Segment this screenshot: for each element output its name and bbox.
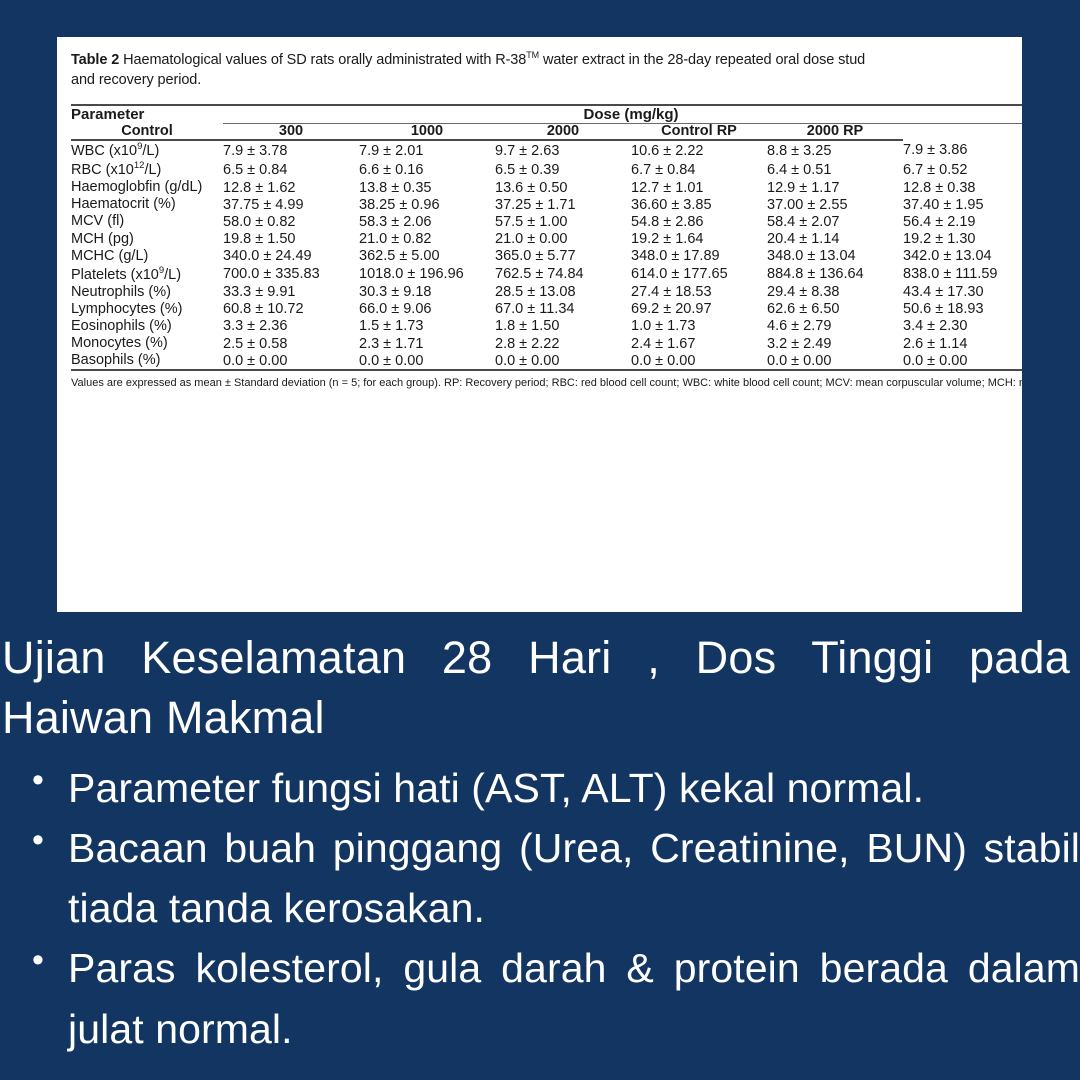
table-cell: 362.5 ± 5.00: [359, 248, 495, 265]
table-cell: 340.0 ± 24.49: [223, 248, 359, 265]
figure-inner: Table 2 Haematological values of SD rats…: [57, 37, 1022, 397]
table-cell: 37.00 ± 2.55: [767, 196, 903, 213]
table-cell: 2.4 ± 1.67: [631, 335, 767, 352]
table-cell: 58.3 ± 2.06: [359, 213, 495, 230]
row-header-parameter: MCV (fl): [71, 213, 223, 230]
table-cell: 67.0 ± 11.34: [495, 301, 631, 318]
figure-footnote: Values are expressed as mean ± Standard …: [71, 376, 1022, 397]
table-cell: 62.6 ± 6.50: [767, 301, 903, 318]
table-cell: 30.3 ± 9.18: [359, 284, 495, 301]
table-row: MCHC (g/L)340.0 ± 24.49362.5 ± 5.00365.0…: [71, 248, 1022, 265]
table-cell: 0.0 ± 0.00: [495, 352, 631, 370]
row-header-parameter: Platelets (x109/L): [71, 265, 223, 284]
table-column-header-row: Control30010002000Control RP2000 RP: [71, 123, 1022, 140]
table-cell: 6.7 ± 0.52: [903, 160, 1022, 179]
table-cell: 54.8 ± 2.86: [631, 213, 767, 230]
table-cell: 762.5 ± 74.84: [495, 265, 631, 284]
table-cell: 33.3 ± 9.91: [223, 284, 359, 301]
table-cell: 13.6 ± 0.50: [495, 179, 631, 196]
table-cell: 2.8 ± 2.22: [495, 335, 631, 352]
slide-heading: Ujian Keselamatan 28 Hari , Dos Tinggi p…: [0, 628, 1080, 748]
table-cell: 6.5 ± 0.39: [495, 160, 631, 179]
table-cell: 60.8 ± 10.72: [223, 301, 359, 318]
table-cell: 342.0 ± 13.04: [903, 248, 1022, 265]
haematology-table: Parameter Dose (mg/kg) Control3001000200…: [71, 104, 1022, 371]
figure-caption: Table 2 Haematological values of SD rats…: [71, 49, 1022, 90]
table-cell: 4.6 ± 2.79: [767, 318, 903, 335]
table-cell: 57.5 ± 1.00: [495, 213, 631, 230]
table-cell: 1018.0 ± 196.96: [359, 265, 495, 284]
table-cell: 12.8 ± 1.62: [223, 179, 359, 196]
table-cell: 1.5 ± 1.73: [359, 318, 495, 335]
table-cell: 37.40 ± 1.95: [903, 196, 1022, 213]
table-cell: 37.25 ± 1.71: [495, 196, 631, 213]
table-cell: 884.8 ± 136.64: [767, 265, 903, 284]
row-header-parameter: Lymphocytes (%): [71, 301, 223, 318]
table-cell: 614.0 ± 177.65: [631, 265, 767, 284]
column-header-300: 300: [223, 123, 359, 140]
table-cell: 6.5 ± 0.84: [223, 160, 359, 179]
slide-bullet-item: Paras kolesterol, gula darah & protein b…: [26, 938, 1080, 1059]
table-cell: 28.5 ± 13.08: [495, 284, 631, 301]
table-group-header-row: Parameter Dose (mg/kg): [71, 105, 1022, 124]
row-header-parameter: Monocytes (%): [71, 335, 223, 352]
table-cell: 7.9 ± 3.86: [903, 140, 1022, 160]
table-row: Monocytes (%)2.5 ± 0.582.3 ± 1.712.8 ± 2…: [71, 335, 1022, 352]
row-header-parameter: Eosinophils (%): [71, 318, 223, 335]
table-cell: 12.7 ± 1.01: [631, 179, 767, 196]
column-header-parameter: Parameter: [71, 105, 223, 124]
table-cell: 19.8 ± 1.50: [223, 231, 359, 248]
table-cell: 6.4 ± 0.51: [767, 160, 903, 179]
table-cell: 21.0 ± 0.00: [495, 231, 631, 248]
table-row: Lymphocytes (%)60.8 ± 10.7266.0 ± 9.0667…: [71, 301, 1022, 318]
table-row: Neutrophils (%)33.3 ± 9.9130.3 ± 9.1828.…: [71, 284, 1022, 301]
figure-caption-text-a: Haematological values of SD rats orally …: [123, 52, 526, 68]
table-row: Platelets (x109/L)700.0 ± 335.831018.0 ±…: [71, 265, 1022, 284]
column-header-1000: 1000: [359, 123, 495, 140]
row-header-parameter: MCH (pg): [71, 231, 223, 248]
table-cell: 58.0 ± 0.82: [223, 213, 359, 230]
table-cell: 12.9 ± 1.17: [767, 179, 903, 196]
slide-bullet-item: Parameter fungsi hati (AST, ALT) kekal n…: [26, 758, 1080, 818]
row-header-parameter: Haemoglobfin (g/dL): [71, 179, 223, 196]
table-cell: 8.8 ± 3.25: [767, 140, 903, 160]
row-header-parameter: RBC (x1012/L): [71, 160, 223, 179]
figure-caption-line1: Table 2 Haematological values of SD rats…: [71, 52, 865, 68]
table-figure-card: Table 2 Haematological values of SD rats…: [57, 37, 1022, 612]
row-header-parameter: Neutrophils (%): [71, 284, 223, 301]
table-cell: 12.8 ± 0.38: [903, 179, 1022, 196]
table-cell: 0.0 ± 0.00: [631, 352, 767, 370]
table-cell: 9.7 ± 2.63: [495, 140, 631, 160]
table-cell: 29.4 ± 8.38: [767, 284, 903, 301]
table-cell: 365.0 ± 5.77: [495, 248, 631, 265]
figure-caption-text-b: water extract in the 28-day repeated ora…: [539, 52, 865, 68]
table-cell: 27.4 ± 18.53: [631, 284, 767, 301]
superscript: 9: [137, 141, 142, 152]
column-header-2000-rp: 2000 RP: [767, 123, 903, 140]
table-row: MCH (pg)19.8 ± 1.5021.0 ± 0.8221.0 ± 0.0…: [71, 231, 1022, 248]
table-cell: 38.25 ± 0.96: [359, 196, 495, 213]
slide-text-block: Ujian Keselamatan 28 Hari , Dos Tinggi p…: [0, 628, 1080, 1059]
table-cell: 13.8 ± 0.35: [359, 179, 495, 196]
figure-caption-line2: and recovery period.: [71, 70, 1022, 90]
row-header-parameter: MCHC (g/L): [71, 248, 223, 265]
table-cell: 20.4 ± 1.14: [767, 231, 903, 248]
table-cell: 0.0 ± 0.00: [223, 352, 359, 370]
table-cell: 7.9 ± 3.78: [223, 140, 359, 160]
table-cell: 66.0 ± 9.06: [359, 301, 495, 318]
table-cell: 2.3 ± 1.71: [359, 335, 495, 352]
table-cell: 2.5 ± 0.58: [223, 335, 359, 352]
table-body: WBC (x109/L)7.9 ± 3.787.9 ± 2.019.7 ± 2.…: [71, 140, 1022, 370]
table-cell: 700.0 ± 335.83: [223, 265, 359, 284]
table-cell: 56.4 ± 2.19: [903, 213, 1022, 230]
table-cell: 6.6 ± 0.16: [359, 160, 495, 179]
table-cell: 19.2 ± 1.64: [631, 231, 767, 248]
table-cell: 838.0 ± 111.59: [903, 265, 1022, 284]
row-header-parameter: Basophils (%): [71, 352, 223, 370]
slide-bullet-list: Parameter fungsi hati (AST, ALT) kekal n…: [0, 758, 1080, 1059]
superscript: 12: [134, 160, 145, 171]
figure-caption-label: Table 2: [71, 52, 119, 68]
table-cell: 58.4 ± 2.07: [767, 213, 903, 230]
table-cell: 69.2 ± 20.97: [631, 301, 767, 318]
table-cell: 2.6 ± 1.14: [903, 335, 1022, 352]
superscript: 9: [159, 265, 164, 276]
table-cell: 37.75 ± 4.99: [223, 196, 359, 213]
row-header-parameter: Haematocrit (%): [71, 196, 223, 213]
table-row: Haemoglobfin (g/dL)12.8 ± 1.6213.8 ± 0.3…: [71, 179, 1022, 196]
table-cell: 6.7 ± 0.84: [631, 160, 767, 179]
row-header-parameter: WBC (x109/L): [71, 140, 223, 160]
table-cell: 1.0 ± 1.73: [631, 318, 767, 335]
trademark-mark: TM: [526, 50, 539, 60]
table-cell: 348.0 ± 13.04: [767, 248, 903, 265]
table-cell: 36.60 ± 3.85: [631, 196, 767, 213]
table-cell: 3.3 ± 2.36: [223, 318, 359, 335]
table-row: WBC (x109/L)7.9 ± 3.787.9 ± 2.019.7 ± 2.…: [71, 140, 1022, 160]
table-cell: 7.9 ± 2.01: [359, 140, 495, 160]
table-cell: 3.2 ± 2.49: [767, 335, 903, 352]
table-cell: 21.0 ± 0.82: [359, 231, 495, 248]
column-header-2000: 2000: [495, 123, 631, 140]
column-header-control-rp: Control RP: [631, 123, 767, 140]
table-cell: 0.0 ± 0.00: [903, 352, 1022, 370]
table-row: Basophils (%)0.0 ± 0.000.0 ± 0.000.0 ± 0…: [71, 352, 1022, 370]
table-cell: 3.4 ± 2.30: [903, 318, 1022, 335]
table-row: Haematocrit (%)37.75 ± 4.9938.25 ± 0.963…: [71, 196, 1022, 213]
table-cell: 348.0 ± 17.89: [631, 248, 767, 265]
table-row: MCV (fl)58.0 ± 0.8258.3 ± 2.0657.5 ± 1.0…: [71, 213, 1022, 230]
table-head: Parameter Dose (mg/kg) Control3001000200…: [71, 105, 1022, 141]
column-group-header-dose: Dose (mg/kg): [223, 105, 1022, 124]
table-cell: 50.6 ± 18.93: [903, 301, 1022, 318]
table-cell: 1.8 ± 1.50: [495, 318, 631, 335]
table-row: RBC (x1012/L)6.5 ± 0.846.6 ± 0.166.5 ± 0…: [71, 160, 1022, 179]
table-cell: 0.0 ± 0.00: [359, 352, 495, 370]
table-row: Eosinophils (%)3.3 ± 2.361.5 ± 1.731.8 ±…: [71, 318, 1022, 335]
column-header-control: Control: [71, 123, 223, 140]
slide-bullet-item: Bacaan buah pinggang (Urea, Creatinine, …: [26, 818, 1080, 939]
table-cell: 19.2 ± 1.30: [903, 231, 1022, 248]
table-cell: 43.4 ± 17.30: [903, 284, 1022, 301]
table-cell: 10.6 ± 2.22: [631, 140, 767, 160]
table-cell: 0.0 ± 0.00: [767, 352, 903, 370]
